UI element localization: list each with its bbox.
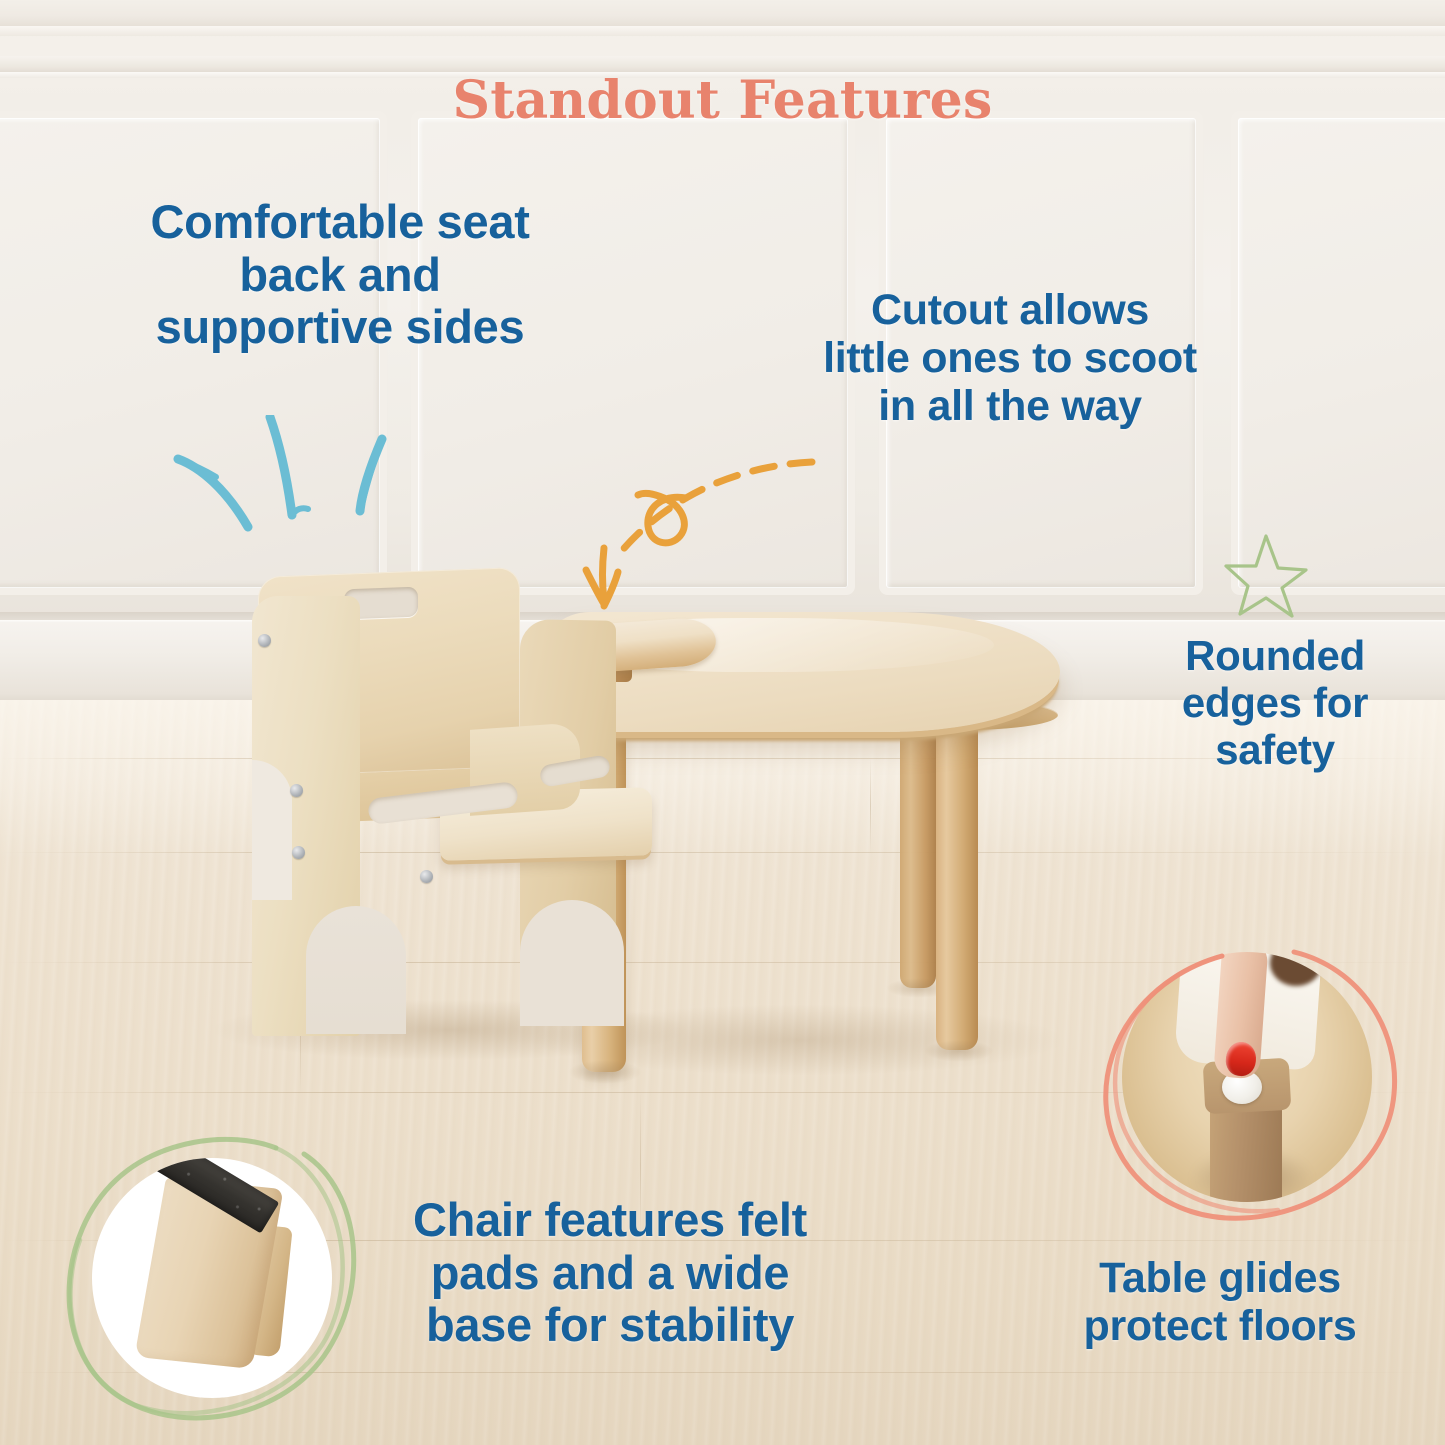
callout-line: little ones to scoot: [740, 334, 1280, 382]
callout-rounded-edges: Rounded edges for safety: [1120, 632, 1430, 773]
callout-line: Comfortable seat: [60, 196, 620, 249]
callout-line: pads and a wide: [330, 1247, 890, 1300]
callout-cutout-scoot: Cutout allows little ones to scoot in al…: [740, 286, 1280, 430]
callout-table-glides: Table glides protect floors: [1010, 1254, 1430, 1350]
callout-line: supportive sides: [60, 301, 620, 354]
chair-screw: [258, 634, 271, 647]
callout-line: Cutout allows: [740, 286, 1280, 334]
table-leg-contact-shadow: [568, 1060, 642, 1084]
table-leg-rear: [900, 716, 936, 988]
felt-pad-inset-photo: [92, 1158, 332, 1398]
callout-line: base for stability: [330, 1299, 890, 1352]
chair-screw: [420, 870, 433, 883]
callout-line: Chair features felt: [330, 1194, 890, 1247]
page-title: Standout Features: [0, 70, 1445, 131]
table-glide-inset-photo: [1122, 952, 1372, 1202]
callout-comfortable-seat: Comfortable seat back and supportive sid…: [60, 196, 620, 354]
callout-line: back and: [60, 249, 620, 302]
callout-line: Table glides: [1010, 1254, 1430, 1302]
chair-screw: [290, 784, 303, 797]
chair-right-arch-cutout: [520, 900, 624, 1026]
chair-left-arch-cutout: [306, 906, 406, 1034]
callout-felt-pads: Chair features felt pads and a wide base…: [330, 1194, 890, 1352]
chair-screw: [292, 846, 305, 859]
chair-side-curve-cutout: [252, 760, 292, 900]
callout-line: in all the way: [740, 382, 1280, 430]
infographic-canvas: Standout Features Comfortable seat back …: [0, 0, 1445, 1445]
table-leg-right: [936, 718, 978, 1050]
callout-line: Rounded: [1120, 632, 1430, 679]
table-leg-contact-shadow: [924, 1040, 994, 1062]
callout-line: safety: [1120, 726, 1430, 773]
callout-line: edges for: [1120, 679, 1430, 726]
callout-line: protect floors: [1010, 1302, 1430, 1350]
